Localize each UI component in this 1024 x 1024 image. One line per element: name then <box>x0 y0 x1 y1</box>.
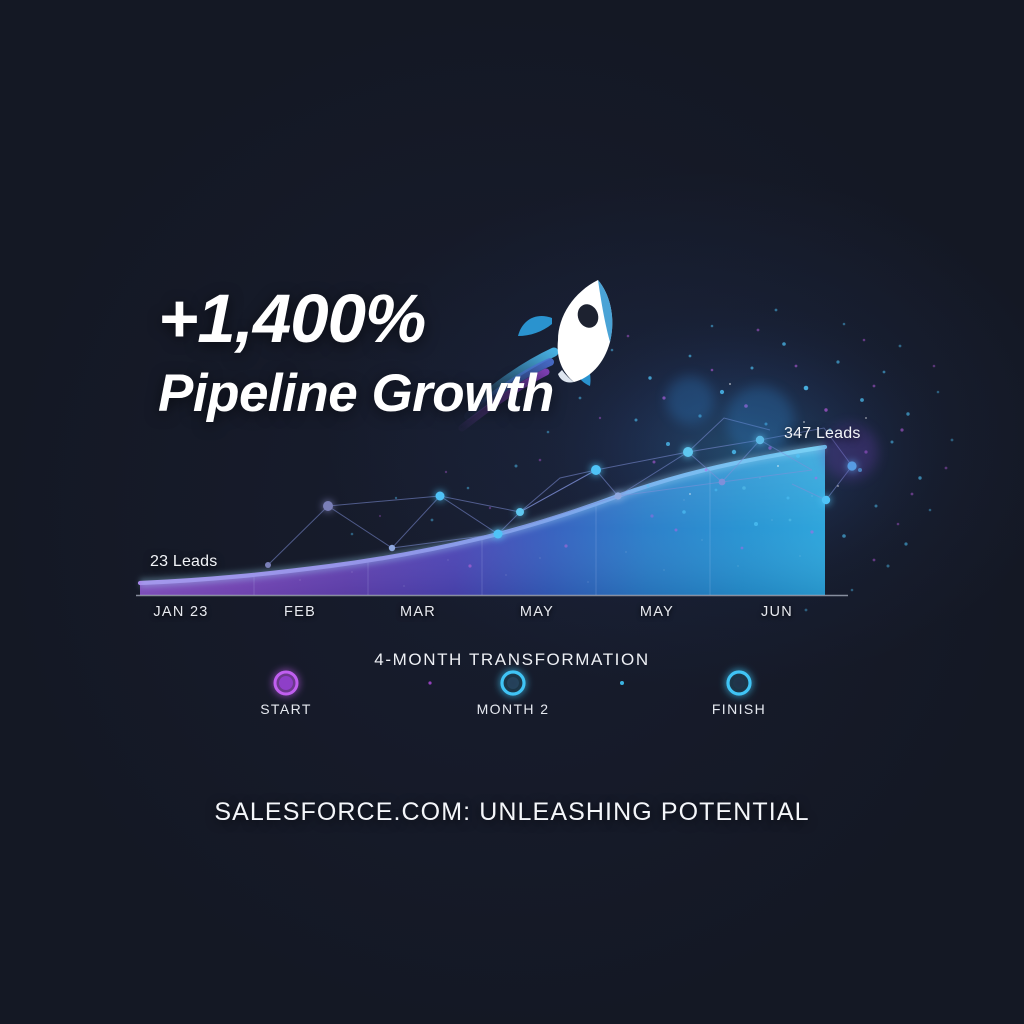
timeline-node-month2[interactable] <box>502 672 524 694</box>
timeline-node-finish[interactable] <box>728 672 750 694</box>
infographic-artwork <box>0 0 1024 1024</box>
x-axis-label-1: FEB <box>284 604 316 620</box>
x-axis-label-4: MAY <box>640 604 674 620</box>
timeline-tick-dot <box>428 681 431 684</box>
start-value-label: 23 Leads <box>150 553 217 571</box>
x-axis-label-2: MAR <box>400 604 436 620</box>
timeline-node-start[interactable] <box>275 672 297 694</box>
x-axis-label-3: MAY <box>520 604 554 620</box>
footer-caption: SALESFORCE.COM: UNLEASHING POTENTIAL <box>214 798 809 827</box>
metric-value: +1,400% <box>158 284 554 353</box>
metric-subtitle: Pipeline Growth <box>158 367 554 420</box>
headline-block: +1,400% Pipeline Growth <box>158 284 554 420</box>
end-value-label: 347 Leads <box>784 425 861 443</box>
timeline-tick-dot <box>620 681 624 685</box>
timeline-label-month2: MONTH 2 <box>477 701 550 717</box>
timeline-label-start: START <box>260 701 312 717</box>
timeline-label-finish: FINISH <box>712 701 766 717</box>
x-axis-label-5: JUN <box>761 604 793 620</box>
x-axis-label-0: JAN 23 <box>153 604 208 620</box>
infographic-canvas: +1,400% Pipeline Growth 23 Leads 347 Lea… <box>0 0 1024 1024</box>
area-chart <box>136 440 848 596</box>
timeline-title: 4-MONTH TRANSFORMATION <box>374 650 649 670</box>
